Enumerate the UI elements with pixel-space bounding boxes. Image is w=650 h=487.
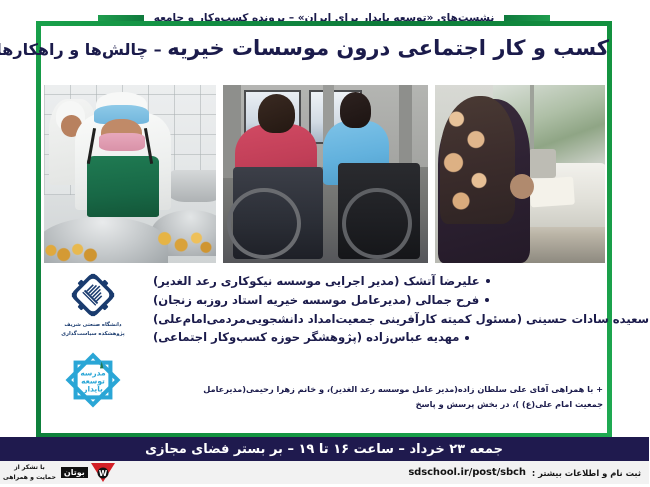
butane-flame-icon: W xyxy=(91,462,117,483)
registration-url-link[interactable]: sdschool.ir/post/sbch xyxy=(409,467,527,478)
organizer-logos: دانشگاه صنعتی شریف پژوهشکده سیاست‌گذاری … xyxy=(44,272,144,432)
photo-kitchen-workers xyxy=(45,85,217,263)
list-item: فرح جمالی (مدیرعامل موسسه خیریه استاد رو… xyxy=(154,291,604,310)
thanks-text: با تشکر از حمایت و همراهی xyxy=(4,463,57,482)
photo2-head-left xyxy=(259,94,296,133)
speaker-list: علیرضا آتشک (مدیر اجرایی موسسه نیکوکاری … xyxy=(154,272,604,347)
event-datetime-text: جمعه ۲۳ خرداد – ساعت ۱۶ تا ۱۹ – بر بستر … xyxy=(146,442,504,457)
sponsor-logo: W بوتان xyxy=(62,462,117,483)
list-item: علیرضا آتشک (مدیر اجرایی موسسه نیکوکاری … xyxy=(154,272,604,291)
sponsor-block: W بوتان با تشکر از حمایت و همراهی xyxy=(4,461,117,484)
header-dash-right xyxy=(99,15,145,21)
sds-octagram-icon: مدرسه توسعه پایدار xyxy=(65,351,123,409)
footer: ثبت نام و اطلاعات بیشتر : sdschool.ir/po… xyxy=(0,461,650,484)
photo-sewing-woman xyxy=(436,85,606,263)
sds-text-line3: پایدار xyxy=(83,384,104,393)
svg-text:W: W xyxy=(100,469,109,478)
photo1-fabric xyxy=(530,176,576,207)
sustainable-development-school-logo: مدرسه توسعه پایدار xyxy=(59,351,129,409)
photo3-green-apron xyxy=(88,156,160,217)
photo2-wheel-left xyxy=(228,188,302,259)
speaker-name: سعیده سادات حسینی (مسئول کمیته کارآفرینی… xyxy=(154,310,650,329)
photo1-machine-arm xyxy=(530,149,557,177)
poster-root: نشست‌های «توسعه پایدار برای ایران» – پرو… xyxy=(0,0,650,484)
speaker-name: علیرضا آتشک (مدیر اجرایی موسسه نیکوکاری … xyxy=(154,272,481,291)
photo3-food-left xyxy=(45,242,103,263)
photo2-wheel-right xyxy=(343,188,413,259)
bullet-icon xyxy=(466,336,470,340)
photo1-hand xyxy=(511,174,535,199)
list-item: سعیده سادات حسینی (مسئول کمیته کارآفرینی… xyxy=(154,310,604,329)
bullet-icon xyxy=(487,279,491,283)
sharif-emblem-icon xyxy=(71,272,117,318)
photo2-head-right xyxy=(341,92,372,128)
list-item: مهدیه عباس‌زاده (پژوهشگر حوزه کسب‌وکار ا… xyxy=(154,328,604,347)
sharif-caption-line1: دانشگاه صنعتی شریف xyxy=(62,321,125,330)
photo-wheelchair-computer-lab xyxy=(224,85,429,263)
page-title-sub: چالش‌ها و راهکارها xyxy=(0,40,149,59)
sharif-caption-line2: پژوهشکده سیاست‌گذاری xyxy=(62,330,125,339)
additional-guests-note: + با همراهی آقای علی سلطان زاده(مدیر عام… xyxy=(174,382,604,412)
registration-label: ثبت نام و اطلاعات بیشتر : xyxy=(533,468,642,478)
header-dash-left xyxy=(505,15,551,21)
registration-info: ثبت نام و اطلاعات بیشتر : sdschool.ir/po… xyxy=(409,461,642,484)
page-title-separator: – xyxy=(149,40,168,59)
series-header: نشست‌های «توسعه پایدار برای ایران» – پرو… xyxy=(0,8,650,28)
sponsor-name: بوتان xyxy=(62,467,89,478)
thanks-line2: حمایت و همراهی xyxy=(4,473,57,482)
page-title: کسب و کار اجتماعی درون موسسات خیریه – چا… xyxy=(40,36,610,60)
photo3-pink-mask xyxy=(100,133,146,151)
series-header-text: نشست‌های «توسعه پایدار برای ایران» – پرو… xyxy=(155,12,496,24)
bullet-icon xyxy=(486,298,490,302)
sharif-caption: دانشگاه صنعتی شریف پژوهشکده سیاست‌گذاری xyxy=(62,321,125,339)
speaker-name: فرح جمالی (مدیرعامل موسسه خیریه استاد رو… xyxy=(154,291,480,310)
thanks-line1: با تشکر از xyxy=(4,463,57,472)
photo3-back-pot xyxy=(169,170,217,202)
photo3-food-right xyxy=(155,227,213,255)
sharif-university-logo: دانشگاه صنعتی شریف پژوهشکده سیاست‌گذاری xyxy=(55,272,133,339)
page-title-main: کسب و کار اجتماعی درون موسسات خیریه xyxy=(168,36,610,60)
photo-strip xyxy=(44,85,606,263)
photo1-floral-headscarf xyxy=(441,96,516,224)
event-datetime-bar: جمعه ۲۳ خرداد – ساعت ۱۶ تا ۱۹ – بر بستر … xyxy=(0,437,650,461)
speaker-name: مهدیه عباس‌زاده (پژوهشگر حوزه کسب‌وکار ا… xyxy=(154,328,460,347)
